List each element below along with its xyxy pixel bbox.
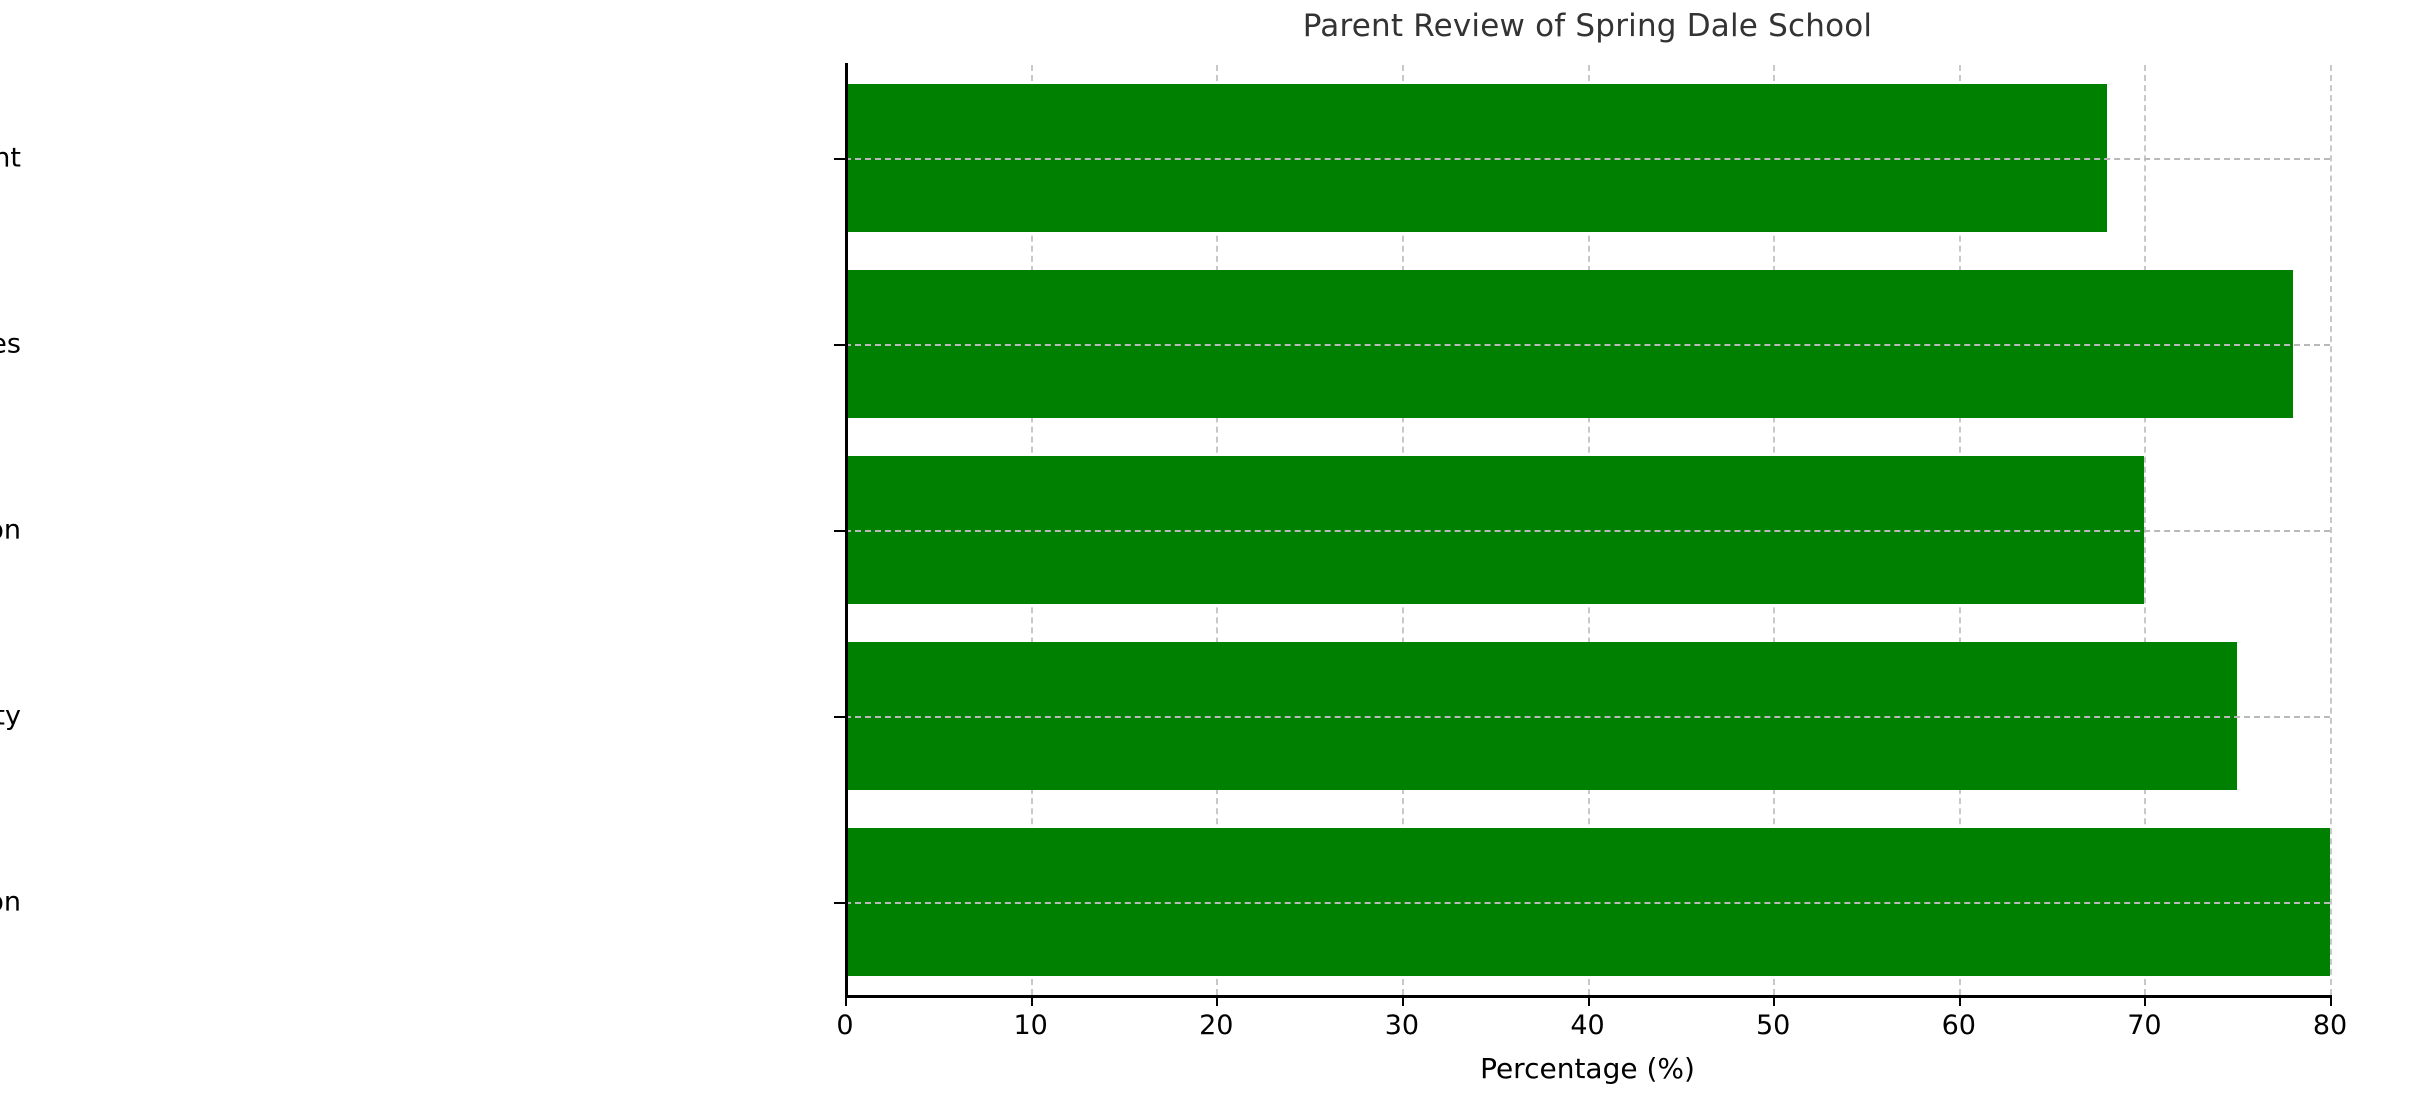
x-tick-label: 80 bbox=[2313, 1010, 2347, 1041]
x-tick-mark bbox=[1773, 995, 1775, 1006]
x-tick-mark bbox=[1402, 995, 1404, 1006]
x-tick-mark bbox=[1031, 995, 1033, 1006]
x-tick-label: 20 bbox=[1199, 1010, 1233, 1041]
x-axis-label: Percentage (%) bbox=[845, 1052, 2330, 1085]
gridline-horizontal bbox=[845, 716, 2330, 718]
gridline-horizontal bbox=[845, 158, 2330, 160]
y-tick-mark bbox=[834, 530, 845, 532]
x-tick-mark bbox=[1959, 995, 1961, 1006]
y-tick-label: Extracurricular Activities & Holistic De… bbox=[0, 143, 21, 174]
y-tick-label: Management/Administration bbox=[0, 515, 21, 546]
y-tick-label: Teaching Quality bbox=[0, 701, 21, 732]
y-tick-mark bbox=[834, 716, 845, 718]
gridline-horizontal bbox=[845, 902, 2330, 904]
x-tick-label: 60 bbox=[1942, 1010, 1976, 1041]
gridline-horizontal bbox=[845, 344, 2330, 346]
x-tick-label: 40 bbox=[1570, 1010, 1604, 1041]
chart-figure: Parent Review of Spring Dale School Perc… bbox=[0, 0, 2413, 1101]
x-tick-label: 30 bbox=[1385, 1010, 1419, 1041]
gridline-horizontal bbox=[845, 530, 2330, 532]
y-tick-label: Overall Satisfaction bbox=[0, 887, 21, 918]
x-tick-label: 10 bbox=[1013, 1010, 1047, 1041]
x-tick-mark bbox=[845, 995, 847, 1006]
x-tick-label: 50 bbox=[1756, 1010, 1790, 1041]
y-tick-label: Infrastructure/Facilities bbox=[0, 329, 21, 360]
x-tick-mark bbox=[2144, 995, 2146, 1006]
gridline-vertical bbox=[2330, 65, 2332, 995]
x-tick-mark bbox=[1216, 995, 1218, 1006]
x-tick-mark bbox=[2330, 995, 2332, 1006]
plot-area bbox=[845, 65, 2330, 995]
y-axis-spine bbox=[845, 63, 848, 997]
y-tick-mark bbox=[834, 902, 845, 904]
chart-title: Parent Review of Spring Dale School bbox=[845, 8, 2330, 44]
x-tick-label: 0 bbox=[836, 1010, 853, 1041]
y-tick-mark bbox=[834, 158, 845, 160]
y-tick-mark bbox=[834, 344, 845, 346]
x-tick-label: 70 bbox=[2127, 1010, 2161, 1041]
x-tick-mark bbox=[1588, 995, 1590, 1006]
